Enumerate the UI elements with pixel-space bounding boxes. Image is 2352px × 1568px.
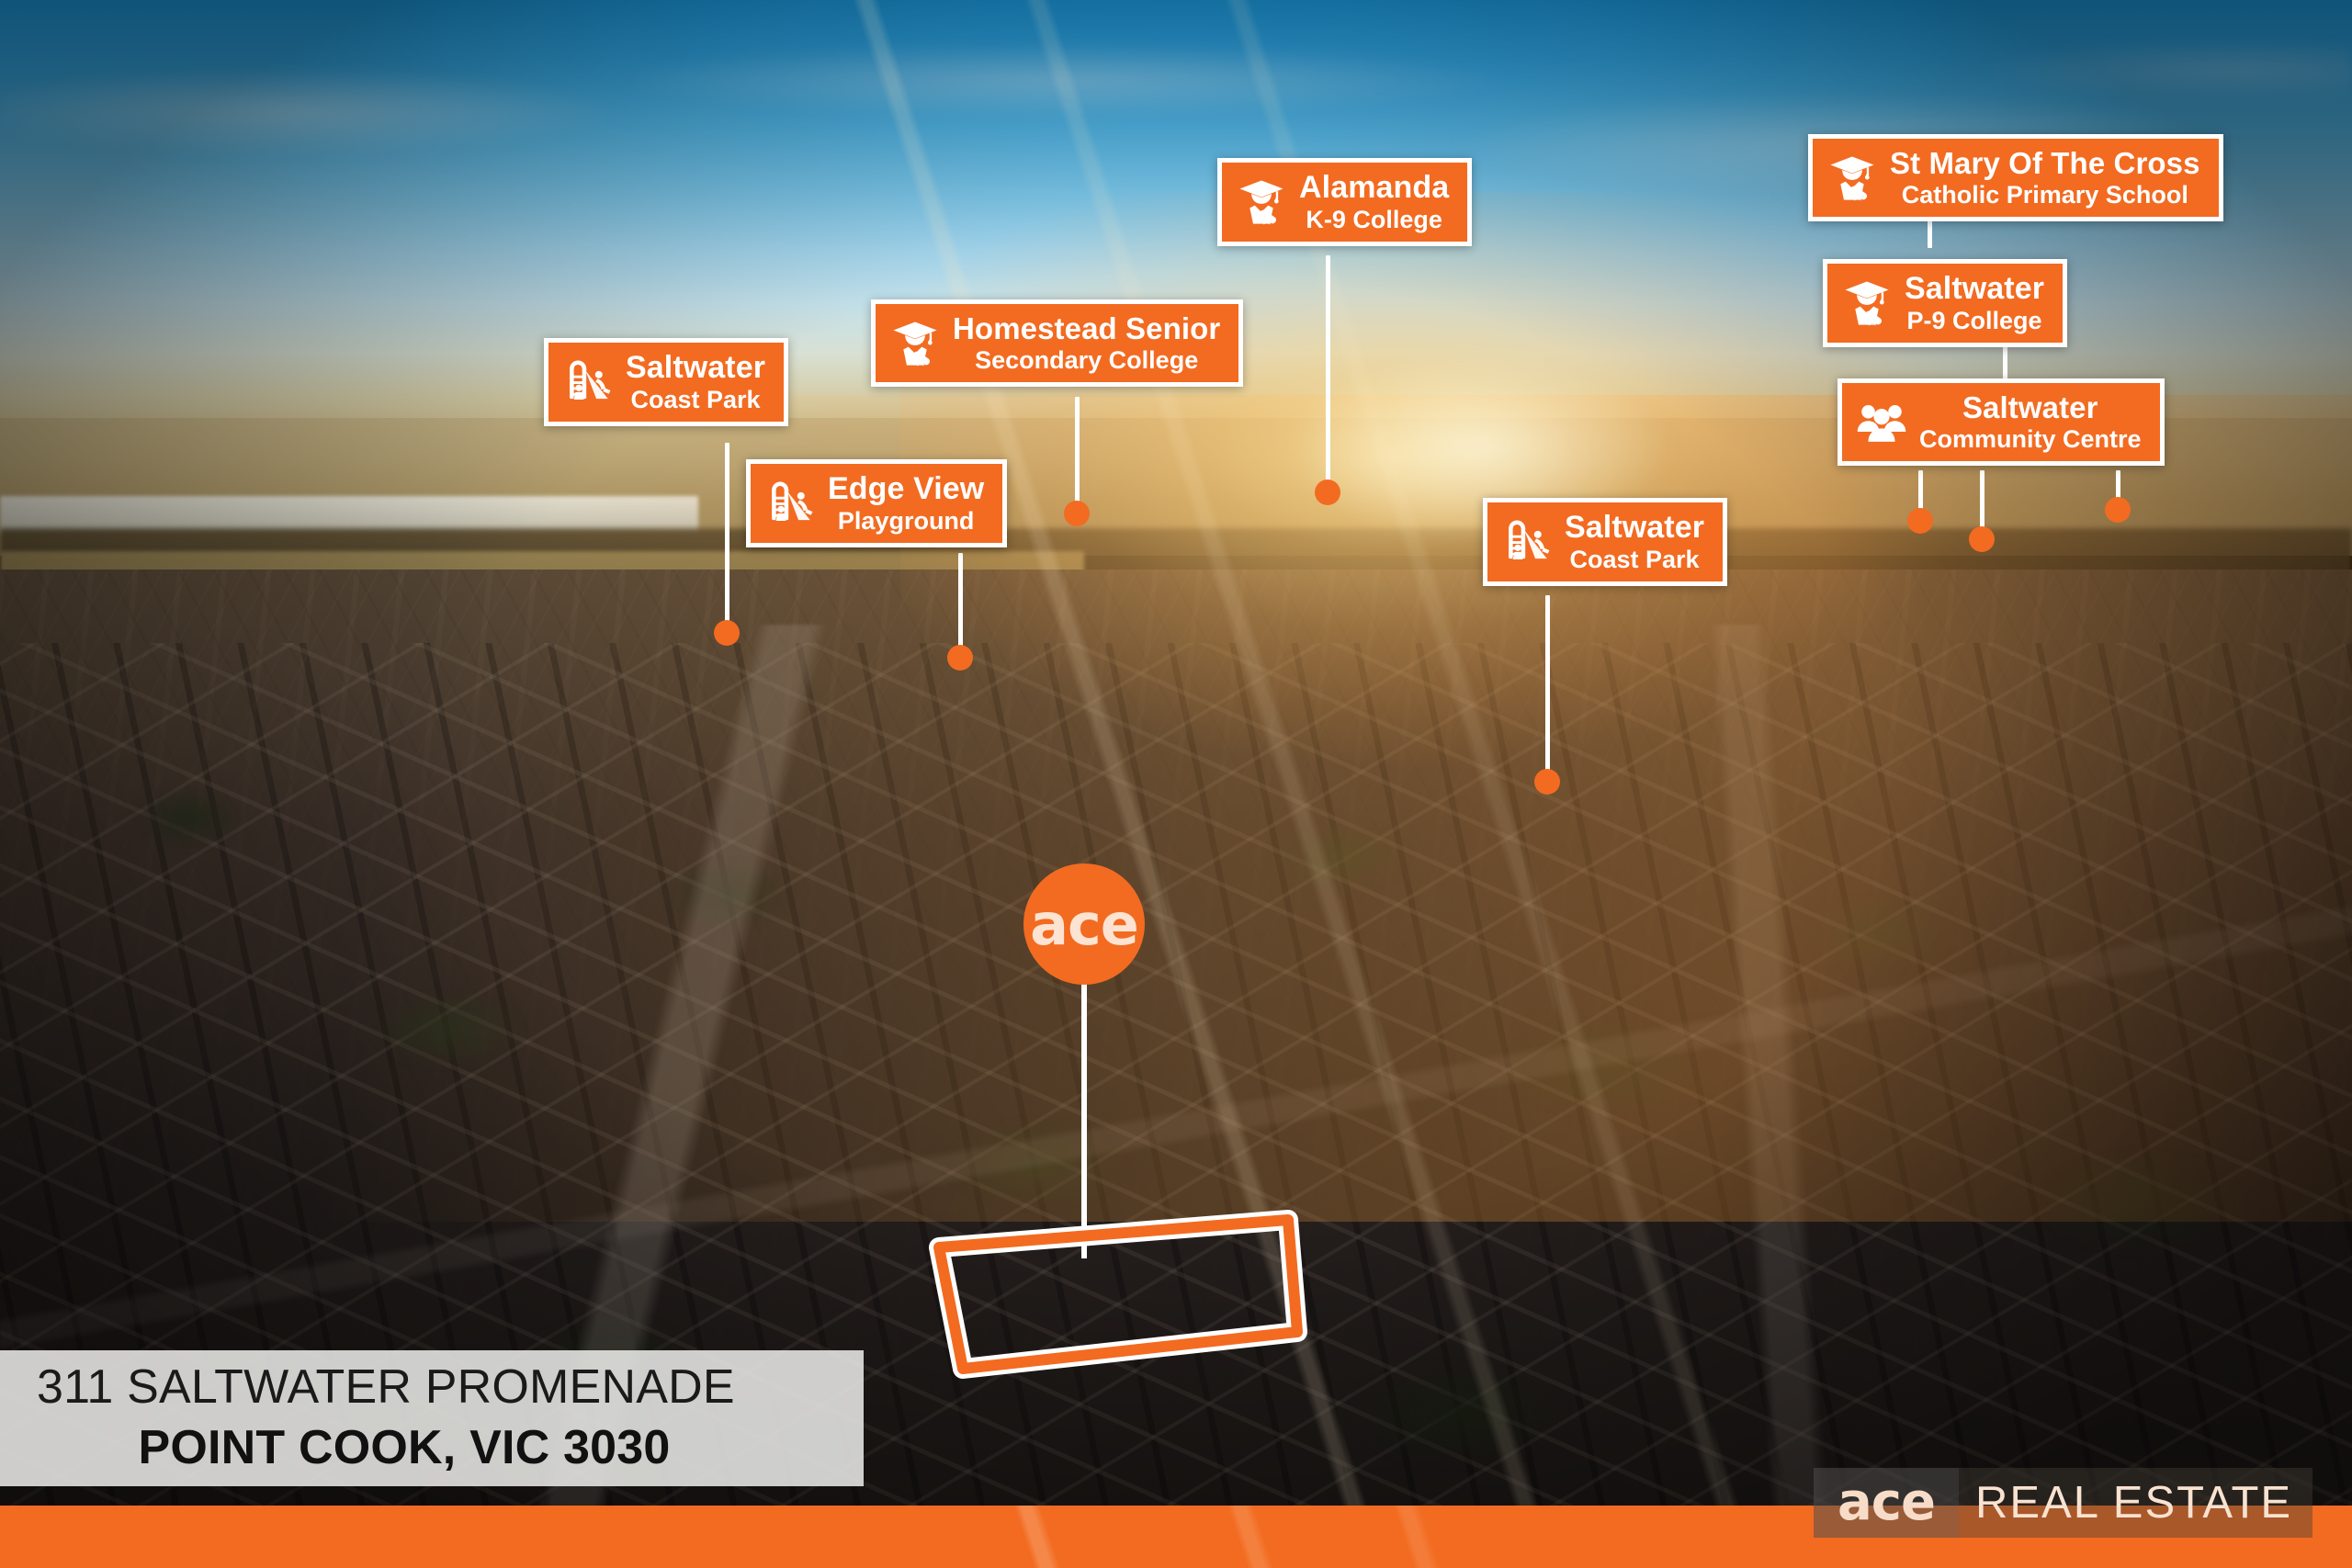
connector-dot-right-a	[1907, 508, 1933, 534]
poi-text-alamanda-k9: Alamanda K-9 College	[1299, 172, 1449, 232]
graduate-icon	[888, 317, 942, 370]
connector-dot-saltwater-coast-park-mid	[1534, 769, 1560, 795]
graduate-icon	[1840, 276, 1894, 330]
poi-text-st-mary-of-the-cross: St Mary Of The Cross Catholic Primary Sc…	[1890, 148, 2200, 208]
connector-dot-saltwater-coast-park-left	[714, 620, 740, 646]
playground-slide-icon	[1500, 515, 1554, 569]
poi-text-saltwater-coast-park-mid: Saltwater Coast Park	[1565, 512, 1704, 572]
poi-subtitle: Catholic Primary School	[1890, 182, 2200, 208]
connector-dot-alamanda-k9	[1315, 479, 1340, 505]
poi-label-saltwater-community-centre[interactable]: Saltwater Community Centre	[1837, 378, 2165, 466]
graduate-icon	[1235, 175, 1288, 229]
address-banner: 311 SALTWATER PROMENADE POINT COOK, VIC …	[0, 1350, 864, 1486]
connector-line-saltwater-coast-park-left	[725, 443, 729, 628]
water-inlet	[0, 496, 698, 533]
logo-wordmark: REAL ESTATE	[1959, 1468, 2312, 1538]
poi-subtitle: K-9 College	[1299, 207, 1449, 232]
poi-title: Homestead Senior	[953, 313, 1220, 344]
logo-mark-text: ace	[1837, 1477, 1935, 1529]
poi-label-saltwater-coast-park-mid[interactable]: Saltwater Coast Park	[1483, 498, 1727, 586]
poi-subtitle: Coast Park	[1565, 547, 1704, 572]
poi-subtitle: Coast Park	[626, 387, 765, 412]
poi-subtitle: Community Centre	[1919, 426, 2142, 452]
connector-dot-edge-view-playground	[947, 645, 973, 671]
logo-mark: ace	[1814, 1468, 1959, 1538]
playground-slide-icon	[561, 355, 615, 409]
poi-title: Saltwater	[626, 352, 765, 384]
ace-pin-marker: ace	[1023, 863, 1145, 985]
connector-dot-homestead-senior	[1064, 501, 1090, 526]
poi-title: Saltwater	[1565, 512, 1704, 544]
people-group-icon	[1855, 396, 1908, 449]
poi-title: Saltwater	[1905, 273, 2044, 305]
address-line-2: POINT COOK, VIC 3030	[0, 1420, 864, 1475]
ace-pin-label: ace	[1030, 891, 1138, 958]
poi-text-saltwater-community-centre: Saltwater Community Centre	[1919, 392, 2142, 452]
connector-line-alamanda-k9	[1326, 255, 1330, 487]
poi-subtitle: Secondary College	[953, 347, 1220, 373]
ace-real-estate-logo: ace REAL ESTATE	[1814, 1468, 2312, 1538]
poi-title: Edge View	[828, 473, 984, 505]
poi-title: St Mary Of The Cross	[1890, 148, 2200, 179]
connector-dot-right-b	[1969, 526, 1995, 552]
poi-label-saltwater-p9-college[interactable]: Saltwater P-9 College	[1823, 259, 2067, 347]
poi-label-alamanda-k9[interactable]: Alamanda K-9 College	[1217, 158, 1472, 246]
connector-dot-saltwater-community-centre	[2105, 497, 2131, 523]
poi-title: Saltwater	[1919, 392, 2142, 423]
property-marketing-image: Saltwater Coast Park Edge V	[0, 0, 2352, 1568]
poi-subtitle: Playground	[828, 508, 984, 534]
poi-label-saltwater-coast-park-left[interactable]: Saltwater Coast Park	[544, 338, 788, 426]
poi-text-saltwater-p9-college: Saltwater P-9 College	[1905, 273, 2044, 333]
connector-line-saltwater-coast-park-mid	[1545, 595, 1550, 775]
poi-text-homestead-senior: Homestead Senior Secondary College	[953, 313, 1220, 373]
playground-slide-icon	[763, 477, 817, 530]
poi-label-edge-view-playground[interactable]: Edge View Playground	[746, 459, 1007, 547]
poi-subtitle: P-9 College	[1905, 308, 2044, 333]
poi-title: Alamanda	[1299, 172, 1449, 204]
poi-text-edge-view-playground: Edge View Playground	[828, 473, 984, 534]
poi-text-saltwater-coast-park-left: Saltwater Coast Park	[626, 352, 765, 412]
poi-label-homestead-senior[interactable]: Homestead Senior Secondary College	[871, 299, 1243, 387]
property-boundary-outline	[827, 1194, 1378, 1387]
address-line-1: 311 SALTWATER PROMENADE	[0, 1359, 864, 1415]
logo-wordmark-text: REAL ESTATE	[1975, 1481, 2292, 1526]
graduate-icon	[1826, 152, 1879, 205]
connector-line-homestead-senior	[1075, 397, 1080, 507]
connector-line-right-b	[1980, 470, 1984, 533]
poi-label-st-mary-of-the-cross[interactable]: St Mary Of The Cross Catholic Primary Sc…	[1808, 134, 2223, 221]
connector-line-edge-view-playground	[958, 553, 963, 654]
